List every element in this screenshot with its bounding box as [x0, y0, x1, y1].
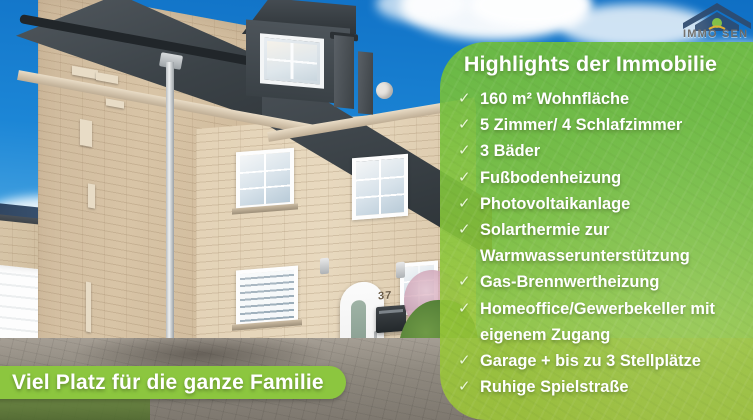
ground-floor-window	[236, 266, 298, 327]
company-logo[interactable]: IMMO SEN	[679, 0, 753, 47]
list-item-label: 5 Zimmer/ 4 Schlafzimmer	[480, 114, 682, 136]
wall-lamp	[396, 262, 405, 279]
check-icon: ✓	[458, 376, 472, 398]
check-icon: ✓	[458, 167, 472, 189]
logo-wordmark: IMMO SEN	[683, 28, 748, 40]
gable-vent	[86, 282, 91, 333]
check-icon: ✓	[458, 140, 472, 162]
list-item: ✓ 160 m² Wohnfläche	[458, 88, 753, 114]
upper-window	[352, 154, 408, 220]
list-item-label: Photovoltaikanlage	[480, 193, 630, 215]
check-icon: ✓	[458, 271, 472, 293]
satellite-dish	[376, 82, 393, 99]
list-item-label: Solarthermie zur	[480, 219, 609, 241]
list-item: ✓ Gas-Brennwertheizung	[458, 271, 753, 297]
panel-title: Highlights der Immobilie	[440, 52, 741, 77]
check-icon: ✓	[458, 298, 472, 320]
list-item-label: eigenem Zugang	[480, 324, 610, 346]
list-item-continuation: eigenem Zugang	[458, 324, 753, 350]
list-item: ✓ Photovoltaikanlage	[458, 193, 753, 219]
real-estate-listing-image: 37 IMMO SEN Highlights der Immobilie ✓ 1…	[0, 0, 753, 420]
list-item-continuation: Warmwasserunterstützung	[458, 245, 753, 271]
bottom-banner: Viel Platz für die ganze Familie	[0, 366, 346, 399]
list-item-label: Gas-Brennwertheizung	[480, 271, 659, 293]
highlights-panel: Highlights der Immobilie ✓ 160 m² Wohnfl…	[440, 42, 753, 420]
check-icon: ✓	[458, 350, 472, 372]
dormer-window	[260, 33, 324, 89]
list-item-label: Ruhige Spielstraße	[480, 376, 628, 398]
list-item: ✓ Ruhige Spielstraße	[458, 376, 753, 402]
list-item-label: Fußbodenheizung	[480, 167, 621, 189]
check-icon: ✓	[458, 219, 472, 241]
wall-lamp	[320, 258, 329, 275]
check-icon: ✓	[458, 193, 472, 215]
list-item: ✓ 3 Bäder	[458, 140, 753, 166]
list-item-label: Garage + bis zu 3 Stellplätze	[480, 350, 701, 372]
chimney	[358, 51, 373, 115]
list-item: ✓ Solarthermie zur	[458, 219, 753, 245]
upper-window	[236, 148, 294, 211]
list-item: ✓ Garage + bis zu 3 Stellplätze	[458, 350, 753, 376]
check-icon: ✓	[458, 88, 472, 110]
list-item: ✓ 5 Zimmer/ 4 Schlafzimmer	[458, 114, 753, 140]
list-item: ✓ Fußbodenheizung	[458, 167, 753, 193]
list-item-label: Homeoffice/Gewerbekeller mit	[480, 298, 715, 320]
list-item-label: 160 m² Wohnfläche	[480, 88, 629, 110]
house-number: 37	[378, 289, 392, 302]
chimney	[334, 35, 354, 109]
list-item: ✓ Homeoffice/Gewerbekeller mit	[458, 298, 753, 324]
gable-vent	[80, 119, 92, 147]
check-icon: ✓	[458, 114, 472, 136]
banner-text: Viel Platz für die ganze Familie	[12, 371, 324, 395]
gable-vent	[88, 183, 95, 208]
highlights-list: ✓ 160 m² Wohnfläche ✓ 5 Zimmer/ 4 Schlaf…	[458, 88, 753, 402]
list-item-label: 3 Bäder	[480, 140, 540, 162]
list-item-label: Warmwasserunterstützung	[480, 245, 690, 267]
